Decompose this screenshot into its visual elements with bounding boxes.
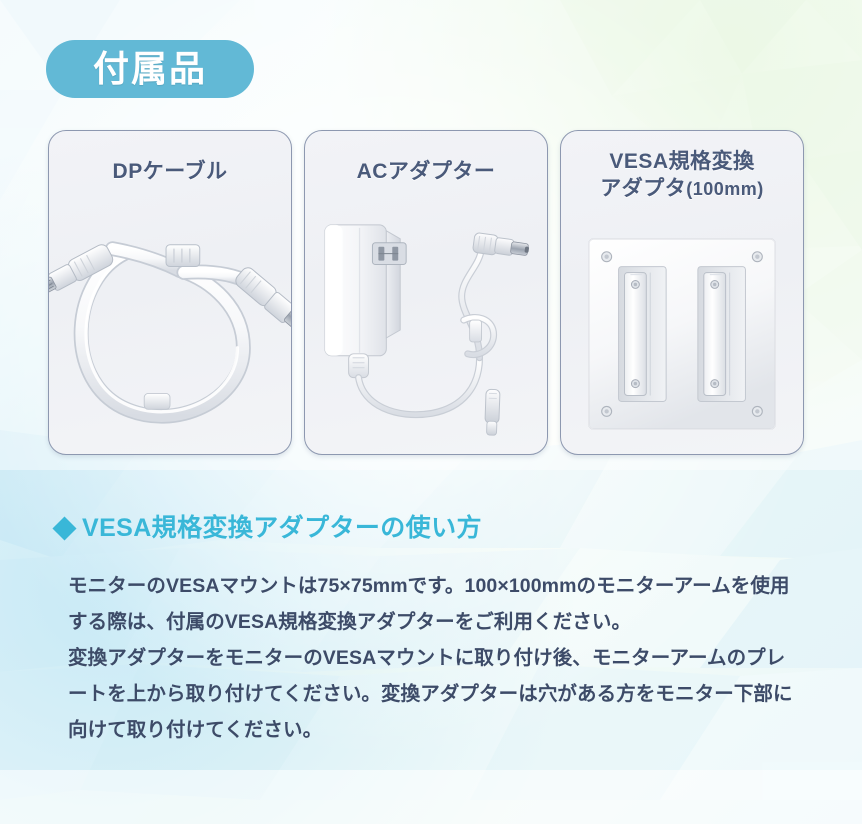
- section-badge: 付属品: [46, 40, 254, 98]
- usage-paragraph-2: 変換アダプターをモニターのVESAマウントに取り付け後、モニターアームのプレート…: [68, 640, 802, 748]
- accessories-page: 付属品 DPケーブル: [0, 0, 862, 824]
- usage-body: モニターのVESAマウントは75×75mmです。100×100mmのモニターアー…: [68, 568, 802, 748]
- usage-heading-text: VESA規格変換アダプターの使い方: [82, 516, 482, 541]
- vesa-plate-photo: [561, 223, 803, 454]
- card-title-vesa-line2: アダプタ: [600, 177, 686, 200]
- accessory-card-row: DPケーブル: [48, 130, 804, 455]
- accessory-card-vesa-adapter[interactable]: VESA規格変換 アダプタ(100mm): [560, 130, 804, 455]
- ac-adapter-photo: [305, 209, 547, 454]
- usage-paragraph-1: モニターのVESAマウントは75×75mmです。100×100mmのモニターアー…: [68, 568, 802, 640]
- card-title-vesa-suffix: (100mm): [686, 179, 764, 199]
- card-title-vesa-adapter: VESA規格変換 アダプタ(100mm): [561, 149, 803, 203]
- usage-section-heading: VESA規格変換アダプターの使い方: [56, 516, 482, 541]
- accessory-card-dp-cable[interactable]: DPケーブル: [48, 130, 292, 455]
- card-title-ac-adapter: ACアダプター: [305, 159, 547, 186]
- diamond-bullet-icon: [52, 516, 76, 540]
- card-title-vesa-line1: VESA規格変換: [609, 150, 754, 173]
- section-badge-label: 付属品: [93, 51, 207, 87]
- dp-cable-photo: [49, 209, 291, 454]
- card-title-dp-cable: DPケーブル: [49, 159, 291, 186]
- accessory-card-ac-adapter[interactable]: ACアダプター: [304, 130, 548, 455]
